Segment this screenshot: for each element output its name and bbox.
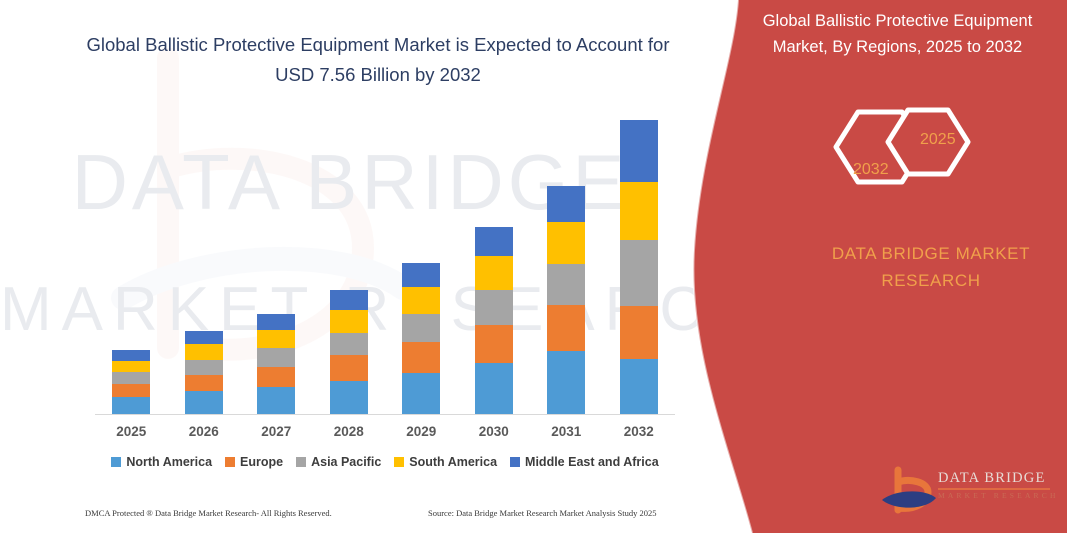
- bar-column: [458, 120, 531, 414]
- legend-label: Asia Pacific: [311, 455, 381, 469]
- x-axis-label: 2027: [240, 424, 313, 439]
- bar-stack: [185, 331, 223, 414]
- bar-segment: [620, 120, 658, 182]
- x-axis-label: 2025: [95, 424, 168, 439]
- legend-label: South America: [409, 455, 497, 469]
- bar-segment: [620, 240, 658, 306]
- bar-segment: [475, 290, 513, 324]
- x-axis-line: [95, 414, 675, 415]
- bar-segment: [402, 342, 440, 373]
- bar-stack: [402, 263, 440, 414]
- bar-stack: [620, 120, 658, 414]
- legend-label: Middle East and Africa: [525, 455, 659, 469]
- bar-segment: [257, 387, 295, 414]
- legend-swatch-icon: [225, 457, 235, 467]
- legend-item[interactable]: Asia Pacific: [296, 455, 381, 469]
- bar-segment: [620, 306, 658, 359]
- legend-swatch-icon: [394, 457, 404, 467]
- bar-column: [313, 120, 386, 414]
- bar-segment: [547, 351, 585, 414]
- chart-title: Global Ballistic Protective Equipment Ma…: [78, 30, 678, 90]
- bar-segment: [330, 290, 368, 310]
- bar-segment: [402, 287, 440, 315]
- x-axis-label: 2031: [530, 424, 603, 439]
- x-axis-label: 2032: [603, 424, 676, 439]
- bar-column: [603, 120, 676, 414]
- infographic-root: DATA BRIDGE MARKET RESEARCH Global Balli…: [0, 0, 1067, 533]
- panel-brand-text: DATA BRIDGE MARKET RESEARCH: [800, 240, 1062, 294]
- bar-segment: [620, 182, 658, 240]
- bar-segment: [257, 330, 295, 348]
- hexagon-2025-label: 2025: [920, 131, 956, 149]
- legend-swatch-icon: [296, 457, 306, 467]
- bar-column: [240, 120, 313, 414]
- logo-subtitle: MARKET RESEARCH: [938, 491, 1058, 500]
- chart-bars: [95, 120, 675, 414]
- bar-column: [530, 120, 603, 414]
- x-axis-label: 2029: [385, 424, 458, 439]
- bar-segment: [475, 363, 513, 414]
- logo-text-group: DATA BRIDGE MARKET RESEARCH: [938, 470, 1058, 500]
- bar-segment: [547, 222, 585, 264]
- bar-segment: [547, 186, 585, 222]
- bar-stack: [257, 314, 295, 414]
- bar-segment: [112, 350, 150, 361]
- legend-swatch-icon: [111, 457, 121, 467]
- bar-segment: [257, 314, 295, 330]
- bar-segment: [402, 314, 440, 342]
- bar-segment: [475, 256, 513, 290]
- bar-segment: [112, 384, 150, 397]
- bar-stack: [330, 290, 368, 414]
- bar-segment: [330, 355, 368, 380]
- x-axis-labels: 20252026202720282029203020312032: [95, 424, 675, 439]
- chart-legend: North AmericaEuropeAsia PacificSouth Ame…: [95, 455, 675, 469]
- bar-segment: [185, 391, 223, 414]
- bar-segment: [330, 310, 368, 333]
- bar-segment: [185, 331, 223, 344]
- logo-divider: [938, 488, 1050, 490]
- legend-label: Europe: [240, 455, 283, 469]
- bar-stack: [112, 350, 150, 414]
- bar-segment: [330, 333, 368, 356]
- hexagon-2032-label: 2032: [853, 161, 889, 179]
- bar-segment: [620, 359, 658, 414]
- bar-segment: [475, 325, 513, 363]
- bar-segment: [112, 372, 150, 384]
- x-axis-label: 2028: [313, 424, 386, 439]
- bar-segment: [257, 367, 295, 387]
- footer-source: Source: Data Bridge Market Research Mark…: [428, 508, 657, 518]
- bar-column: [168, 120, 241, 414]
- bar-segment: [475, 227, 513, 257]
- logo-title: DATA BRIDGE: [938, 470, 1058, 487]
- bar-segment: [185, 360, 223, 375]
- bar-column: [95, 120, 168, 414]
- legend-item[interactable]: South America: [394, 455, 497, 469]
- bar-column: [385, 120, 458, 414]
- bar-stack: [475, 227, 513, 414]
- bar-segment: [112, 361, 150, 373]
- bar-segment: [402, 373, 440, 414]
- legend-label: North America: [126, 455, 212, 469]
- legend-item[interactable]: North America: [111, 455, 212, 469]
- bar-segment: [257, 348, 295, 366]
- bar-segment: [330, 381, 368, 414]
- legend-item[interactable]: Middle East and Africa: [510, 455, 659, 469]
- bar-segment: [112, 397, 150, 414]
- bar-segment: [402, 263, 440, 287]
- x-axis-label: 2030: [458, 424, 531, 439]
- bar-segment: [185, 375, 223, 392]
- x-axis-label: 2026: [168, 424, 241, 439]
- legend-item[interactable]: Europe: [225, 455, 283, 469]
- footer-copyright: DMCA Protected ® Data Bridge Market Rese…: [85, 508, 332, 518]
- stacked-bar-chart: [95, 120, 675, 415]
- hexagon-group: [820, 92, 990, 212]
- panel-title: Global Ballistic Protective Equipment Ma…: [735, 8, 1060, 60]
- bar-segment: [185, 344, 223, 359]
- bar-stack: [547, 186, 585, 414]
- legend-swatch-icon: [510, 457, 520, 467]
- bar-segment: [547, 264, 585, 306]
- bar-segment: [547, 305, 585, 351]
